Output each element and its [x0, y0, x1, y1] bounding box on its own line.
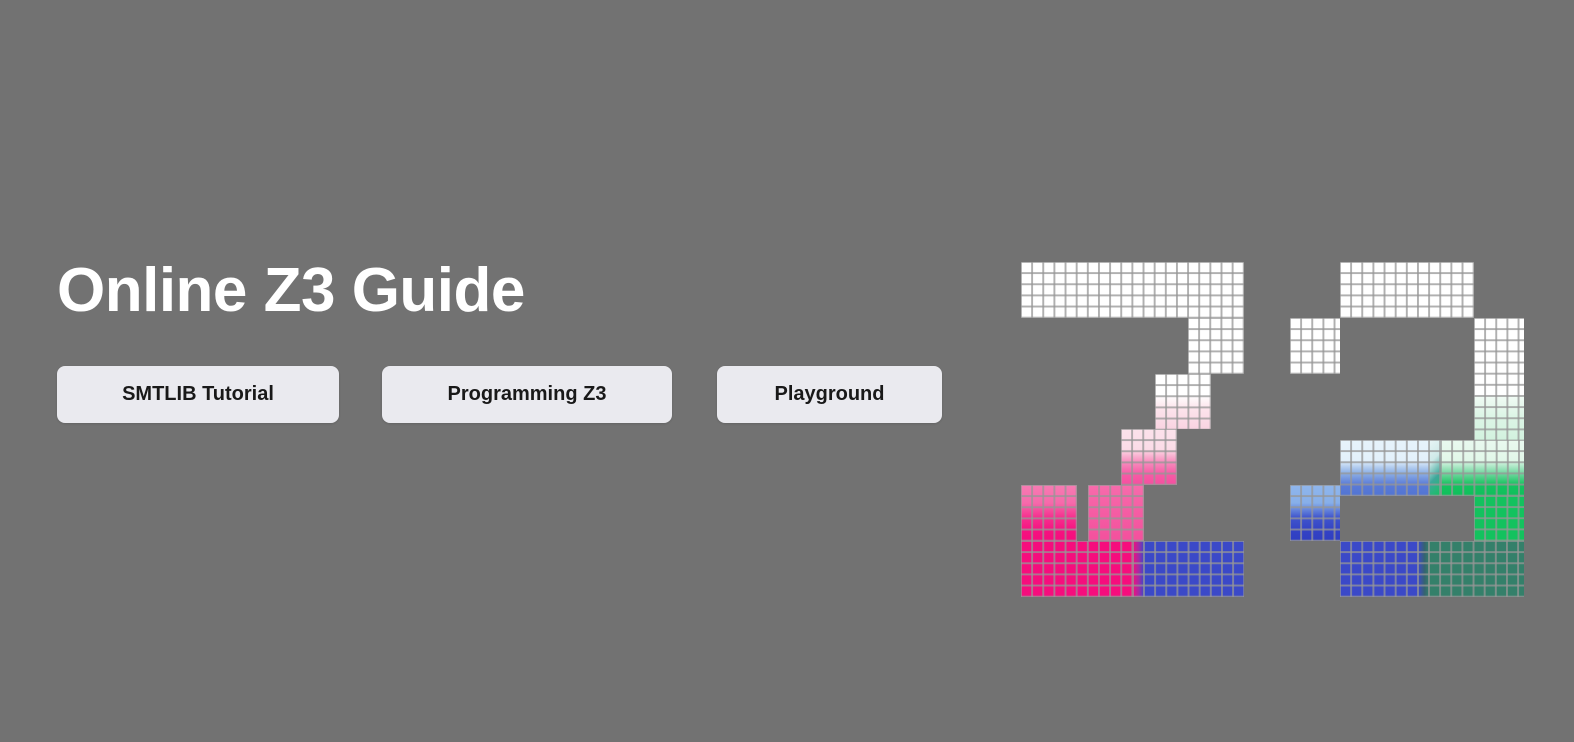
smtlib-tutorial-button[interactable]: SMTLIB Tutorial	[57, 366, 339, 423]
logo-cell-block	[1155, 374, 1211, 430]
logo-cell-block	[1340, 440, 1429, 496]
logo-cell-block	[1474, 396, 1524, 441]
logo-cell-block	[1474, 318, 1524, 396]
logo-cell-block	[1340, 541, 1418, 597]
logo-cell-block	[1290, 318, 1340, 374]
logo-cell-block	[1133, 541, 1144, 597]
logo-cell-block	[1418, 541, 1429, 597]
logo-glyph-seven	[1021, 262, 1247, 587]
logo-cell-block	[1021, 541, 1133, 597]
logo-cell-block	[1088, 485, 1144, 541]
logo-cell-block	[1429, 541, 1524, 597]
logo-cell-block	[1021, 262, 1244, 318]
logo-cell-block	[1429, 440, 1440, 496]
logo-cell-block	[1121, 429, 1177, 485]
hero-button-group: SMTLIB Tutorial Programming Z3 Playgroun…	[57, 366, 942, 423]
logo-glyph-three	[1290, 262, 1522, 587]
logo-cell-block	[1021, 485, 1077, 541]
page-title: Online Z3 Guide	[57, 258, 957, 323]
programming-z3-button[interactable]: Programming Z3	[382, 366, 672, 423]
logo-cell-block	[1144, 541, 1244, 597]
logo-cell-block	[1290, 485, 1340, 541]
logo-cell-block	[1441, 440, 1524, 496]
logo-cell-block	[1340, 262, 1474, 318]
hero-text-block: Online Z3 Guide	[57, 258, 957, 323]
playground-button[interactable]: Playground	[717, 366, 942, 423]
logo-cell-block	[1188, 318, 1244, 374]
z3-pixel-logo	[1021, 262, 1521, 587]
hero-section: Online Z3 Guide SMTLIB Tutorial Programm…	[0, 0, 1574, 742]
